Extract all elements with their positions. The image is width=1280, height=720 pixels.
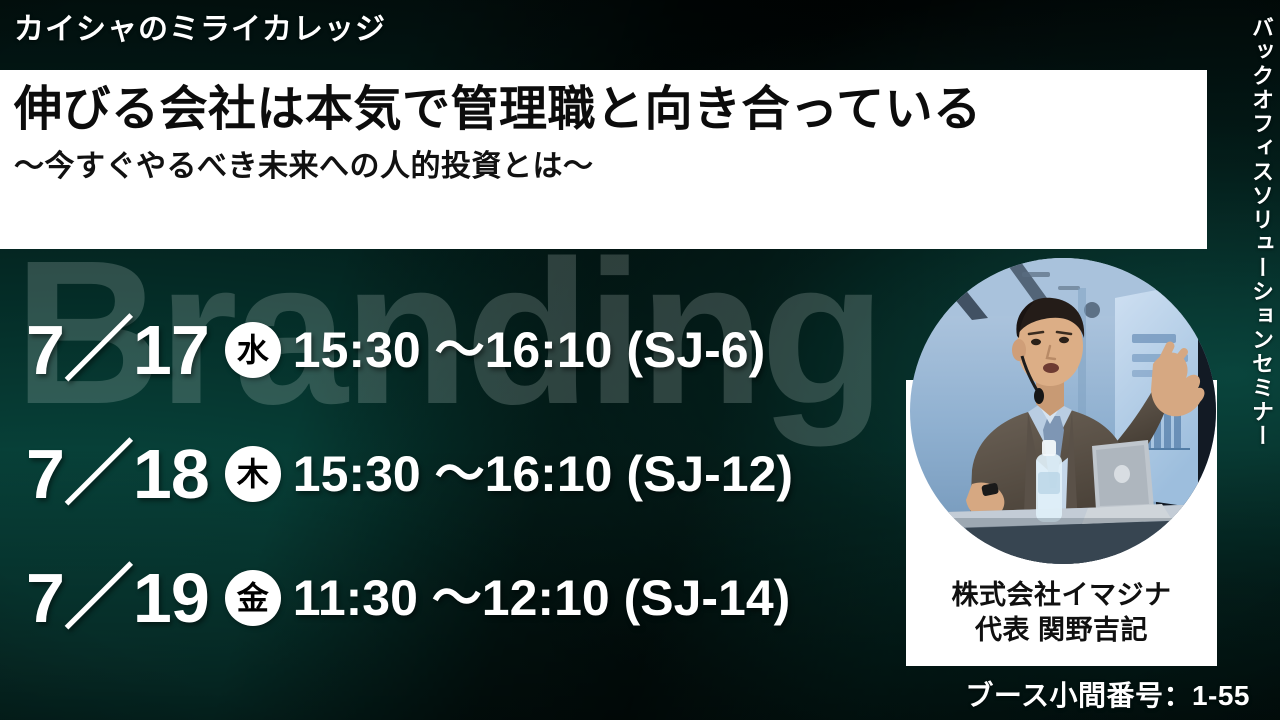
poster-canvas: Branding カイシャのミライカレッジ 伸びる会社は本気で管理職と向き合って… (0, 0, 1280, 720)
speaker-company: 株式会社イマジナ (906, 578, 1217, 613)
schedule-row: 7／17 水 15:30 〜16:10 (SJ-6) (26, 288, 896, 412)
booth-number: ブース小間番号：1-55 (965, 681, 1250, 712)
schedule-date: 7／18 (26, 439, 209, 509)
page-subtitle: 〜今すぐやるべき未来への人的投資とは〜 (14, 149, 1207, 185)
page-title: 伸びる会社は本気で管理職と向き合っている (14, 82, 1207, 139)
schedule-weekday-badge: 水 (225, 322, 281, 378)
speaker-photo-illustration (910, 258, 1216, 564)
schedule-list: 7／17 水 15:30 〜16:10 (SJ-6) 7／18 木 15:30 … (26, 288, 896, 660)
schedule-row: 7／18 木 15:30 〜16:10 (SJ-12) (26, 412, 896, 536)
schedule-row: 7／19 金 11:30 〜12:10 (SJ-14) (26, 536, 896, 660)
schedule-date: 7／19 (26, 563, 209, 633)
speaker-info: 株式会社イマジナ 代表 関野吉記 (906, 578, 1217, 647)
speaker-name: 代表 関野吉記 (906, 613, 1217, 648)
vertical-seminar-label: バックオフィスソリューションセミナー (1232, 16, 1272, 448)
schedule-time: 11:30 〜12:10 (SJ-14) (293, 573, 791, 623)
schedule-time: 15:30 〜16:10 (SJ-6) (293, 325, 765, 375)
schedule-weekday-badge: 金 (225, 570, 281, 626)
eyebrow-title: カイシャのミライカレッジ (14, 13, 386, 46)
schedule-date: 7／17 (26, 315, 209, 385)
schedule-time: 15:30 〜16:10 (SJ-12) (293, 449, 793, 499)
speaker-photo (910, 258, 1216, 564)
schedule-weekday-badge: 木 (225, 446, 281, 502)
title-panel: 伸びる会社は本気で管理職と向き合っている 〜今すぐやるべき未来への人的投資とは〜 (0, 70, 1207, 249)
